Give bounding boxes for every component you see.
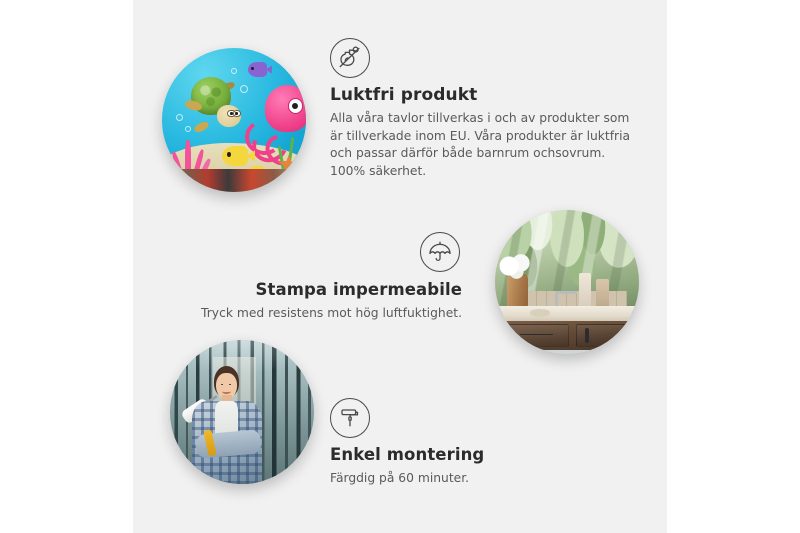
feature-title: Enkel montering [330,445,580,465]
feature-title: Luktfri produkt [330,85,636,105]
woman-with-roller [187,366,271,484]
door-pull [585,328,589,343]
paint-roller-icon [330,398,370,438]
umbrella-icon [420,232,460,272]
feature-easy-install: Enkel montering Färgdig på 60 minuter. [330,398,580,487]
feature-odourless: Luktfri produkt Alla våra tavlor tillver… [330,38,636,180]
flowers [498,253,535,279]
bottle [579,273,592,308]
vanity-cabinet [504,321,636,350]
photo-bathroom [495,210,639,354]
screenshot-canvas: Luktfri produkt Alla våra tavlor tillver… [0,0,800,533]
feature-body: Alla våra tavlor tillverkas i och av pro… [330,110,636,180]
sea-foreground-strip [162,169,306,192]
soap-dish [530,309,550,316]
feature-body: Tryck med resistens mot hög luftfuktighe… [190,305,462,322]
drawer [509,324,569,347]
photo-underwater [162,48,306,192]
feature-body: Färgdig på 60 minuter. [330,470,580,487]
cabinet-door [576,324,631,347]
photo-forest [170,340,314,484]
feature-title: Stampa impermeabile [190,280,462,300]
feature-waterproof: Stampa impermeabile Tryck med resistens … [190,232,462,322]
purple-fish [248,62,267,76]
octopus [248,85,306,160]
drawer-pull [520,334,553,336]
sea-turtle [185,77,243,129]
yellow-fish [222,146,248,166]
no-fragrance-spray-icon [330,38,370,78]
bottle [596,279,609,308]
countertop [495,306,639,322]
